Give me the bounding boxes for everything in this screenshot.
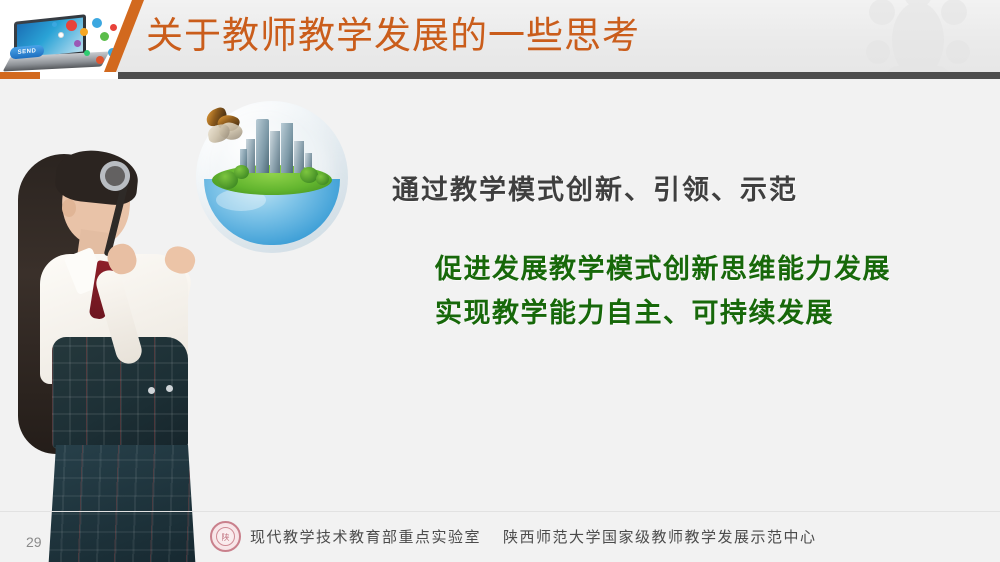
page-title: 关于教师教学发展的一些思考 [146, 9, 640, 63]
footer-divider [0, 511, 1000, 512]
content-heading: 通过教学模式创新、引领、示范 [392, 168, 798, 207]
bullet-line-2: 实现教学能力自主、可持续发展 [435, 291, 891, 335]
butterfly-icon [206, 109, 246, 139]
header-bottom-rule-accent [0, 72, 40, 79]
eco-globe-with-city-icon [196, 101, 348, 253]
content-bullets: 促进发展教学模式创新思维能力发展 实现教学能力自主、可持续发展 [435, 247, 891, 335]
slide-header: SEND 关于教师教学发展的一些思考 [0, 0, 1000, 79]
header-bottom-rule [0, 72, 1000, 79]
university-seal-icon: 陕 [210, 521, 241, 552]
page-number: 29 [26, 534, 42, 550]
footer-center-name: 陕西师范大学国家级教师教学发展示范中心 [503, 528, 817, 546]
slide-body: 通过教学模式创新、引领、示范 促进发展教学模式创新思维能力发展 实现教学能力自主… [0, 79, 1000, 562]
footer-lab-name: 现代教学技术教育部重点实验室 [250, 528, 481, 546]
university-watermark-icon [858, 0, 978, 79]
header-bottom-rule-gap [40, 72, 118, 79]
seal-inner-text: 陕 [216, 527, 235, 546]
footer-text: 现代教学技术教育部重点实验室陕西师范大学国家级教师教学发展示范中心 [250, 526, 839, 547]
bullet-line-1: 促进发展教学模式创新思维能力发展 [435, 247, 891, 291]
